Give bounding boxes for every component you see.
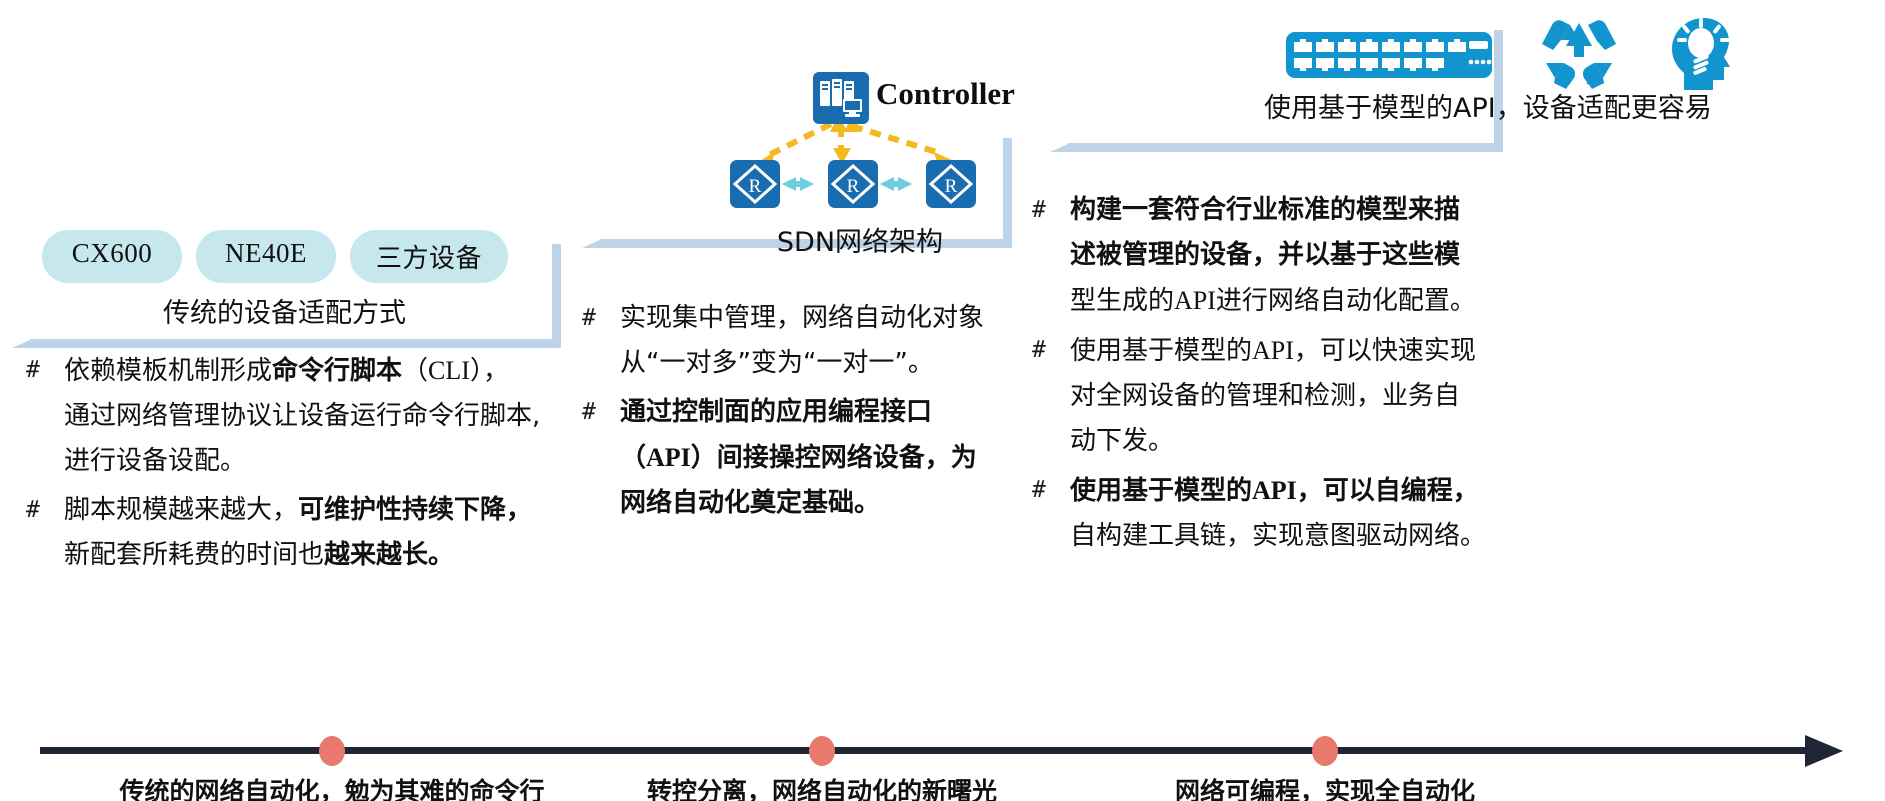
bullet-marker: # bbox=[1028, 468, 1070, 513]
column-2-caption: SDN网络架构 bbox=[700, 220, 1020, 259]
column-1-caption: 传统的设备适配方式 bbox=[163, 291, 406, 330]
bullet-text: 使用基于模型的API，可以自编程， 自构建工具链，实现意图驱动网络。 bbox=[1070, 468, 1486, 559]
bullet-item: # 使用基于模型的API，可以自编程， 自构建工具链，实现意图驱动网络。 bbox=[1028, 468, 1518, 559]
bullet-marker: # bbox=[1028, 188, 1070, 233]
bullet-marker: # bbox=[22, 348, 64, 393]
bullet-item: # 实现集中管理，网络自动化对象 从“一对多”变为“一对一”。 bbox=[578, 296, 1018, 386]
timeline-label: 转控分离，网络自动化的新曙光 bbox=[647, 772, 997, 801]
timeline-marker-dot[interactable] bbox=[1312, 736, 1338, 766]
timeline-label: 网络可编程，实现全自动化 bbox=[1175, 772, 1475, 801]
column-3-bullets: # 构建一套符合行业标准的模型来描 述被管理的设备，并以基于这些模 型生成的AP… bbox=[1028, 188, 1518, 563]
router-diamond-icon: R bbox=[730, 160, 780, 208]
bullet-item: # 使用基于模型的API，可以快速实现 对全网设备的管理和检测，业务自 动下发。 bbox=[1028, 328, 1518, 464]
router-diamond-icon: R bbox=[926, 160, 976, 208]
svg-text:R: R bbox=[945, 176, 958, 197]
router-diamond-icon: R bbox=[828, 160, 878, 208]
recycle-icon bbox=[1540, 19, 1618, 91]
slide-canvas: CX600 NE40E 三方设备 传统的设备适配方式 # 依赖模板机制形成命令行… bbox=[0, 0, 1885, 801]
timeline-axis bbox=[40, 747, 1810, 754]
network-switch-icon bbox=[1286, 26, 1492, 84]
timeline-marker-dot[interactable] bbox=[319, 736, 345, 766]
bullet-text: 使用基于模型的API，可以快速实现 对全网设备的管理和检测，业务自 动下发。 bbox=[1070, 328, 1476, 464]
sdn-architecture-diagram: Controller R R R SDN网络架构 bbox=[700, 72, 1020, 222]
controller-label: Controller bbox=[876, 76, 1015, 112]
timeline-marker-dot[interactable] bbox=[809, 736, 835, 766]
router-node-2[interactable]: R bbox=[828, 160, 878, 208]
column-3-caption: 使用基于模型的API，设备适配更容易 bbox=[1264, 86, 1712, 125]
bullet-item: # 依赖模板机制形成命令行脚本（CLI）， 通过网络管理协议让设备运行命令行脚本… bbox=[22, 348, 582, 484]
bullet-text: 脚本规模越来越大，可维护性持续下降， 新配套所耗费的时间也越来越长。 bbox=[64, 488, 532, 578]
bullet-item: # 构建一套符合行业标准的模型来描 述被管理的设备，并以基于这些模 型生成的AP… bbox=[1028, 188, 1518, 324]
controller-node[interactable] bbox=[813, 72, 869, 124]
bullet-marker: # bbox=[22, 488, 64, 533]
pill-ne40e[interactable]: NE40E bbox=[196, 230, 336, 283]
timeline-arrowhead-icon bbox=[1805, 735, 1843, 767]
bullet-text: 通过控制面的应用编程接口 （API）间接操控网络设备，为 网络自动化奠定基础。 bbox=[620, 390, 977, 526]
router-node-3[interactable]: R bbox=[926, 160, 976, 208]
bullet-marker: # bbox=[578, 390, 620, 435]
router-node-1[interactable]: R bbox=[730, 160, 780, 208]
bullet-text: 实现集中管理，网络自动化对象 从“一对多”变为“一对一”。 bbox=[620, 296, 984, 386]
device-pill-row: CX600 NE40E 三方设备 bbox=[42, 230, 508, 283]
bullet-item: # 通过控制面的应用编程接口 （API）间接操控网络设备，为 网络自动化奠定基础… bbox=[578, 390, 1018, 526]
svg-text:R: R bbox=[749, 176, 762, 197]
server-monitor-icon bbox=[813, 72, 869, 124]
head-lightbulb-icon bbox=[1666, 16, 1744, 94]
pill-cx600[interactable]: CX600 bbox=[42, 230, 182, 283]
bullet-marker: # bbox=[1028, 328, 1070, 373]
column-3-icon-row bbox=[1286, 16, 1744, 94]
bullet-marker: # bbox=[578, 296, 620, 341]
bullet-text: 依赖模板机制形成命令行脚本（CLI）， 通过网络管理协议让设备运行命令行脚本, … bbox=[64, 348, 540, 484]
timeline-label: 传统的网络自动化，勉为其难的命令行 bbox=[119, 772, 544, 801]
pill-third-party-device[interactable]: 三方设备 bbox=[350, 230, 508, 283]
svg-text:R: R bbox=[847, 176, 860, 197]
column-2-bullets: # 实现集中管理，网络自动化对象 从“一对多”变为“一对一”。 # 通过控制面的… bbox=[578, 296, 1018, 530]
bullet-text: 构建一套符合行业标准的模型来描 述被管理的设备，并以基于这些模 型生成的API进… bbox=[1070, 188, 1476, 324]
timeline: 传统的网络自动化，勉为其难的命令行 转控分离，网络自动化的新曙光 网络可编程，实… bbox=[0, 712, 1885, 801]
bullet-item: # 脚本规模越来越大，可维护性持续下降， 新配套所耗费的时间也越来越长。 bbox=[22, 488, 582, 578]
column-1-bullets: # 依赖模板机制形成命令行脚本（CLI）， 通过网络管理协议让设备运行命令行脚本… bbox=[22, 348, 582, 582]
